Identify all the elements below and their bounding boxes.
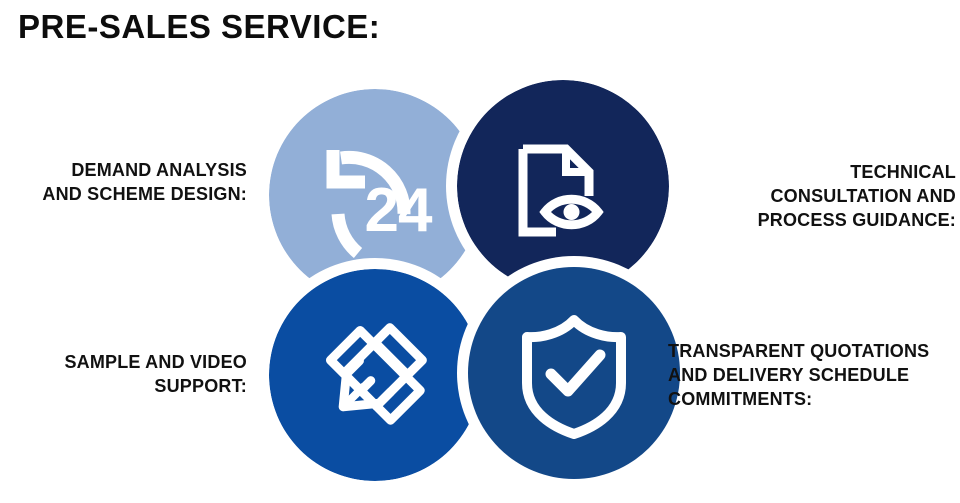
circle-sample-video-support-shape	[269, 269, 481, 481]
circle-transparent-quotations-shape	[468, 267, 680, 479]
diagram-svg: 24	[0, 0, 960, 498]
circle-sample-video-support[interactable]	[269, 269, 481, 481]
circle-transparent-quotations[interactable]	[468, 267, 680, 479]
circle-technical-consultation[interactable]	[457, 80, 669, 292]
label-technical-consultation: TECHNICAL CONSULTATION AND PROCESS GUIDA…	[726, 161, 956, 233]
icon-label-24: 24	[365, 176, 433, 245]
label-demand-analysis: DEMAND ANALYSIS AND SCHEME DESIGN:	[0, 159, 247, 207]
circle-technical-consultation-shape	[457, 80, 669, 292]
label-sample-video-support: SAMPLE AND VIDEO SUPPORT:	[0, 351, 247, 399]
eye-pupil-icon	[564, 204, 580, 220]
circles-diagram: 24	[0, 0, 960, 498]
label-transparent-quotations: TRANSPARENT QUOTATIONS AND DELIVERY SCHE…	[668, 340, 960, 412]
